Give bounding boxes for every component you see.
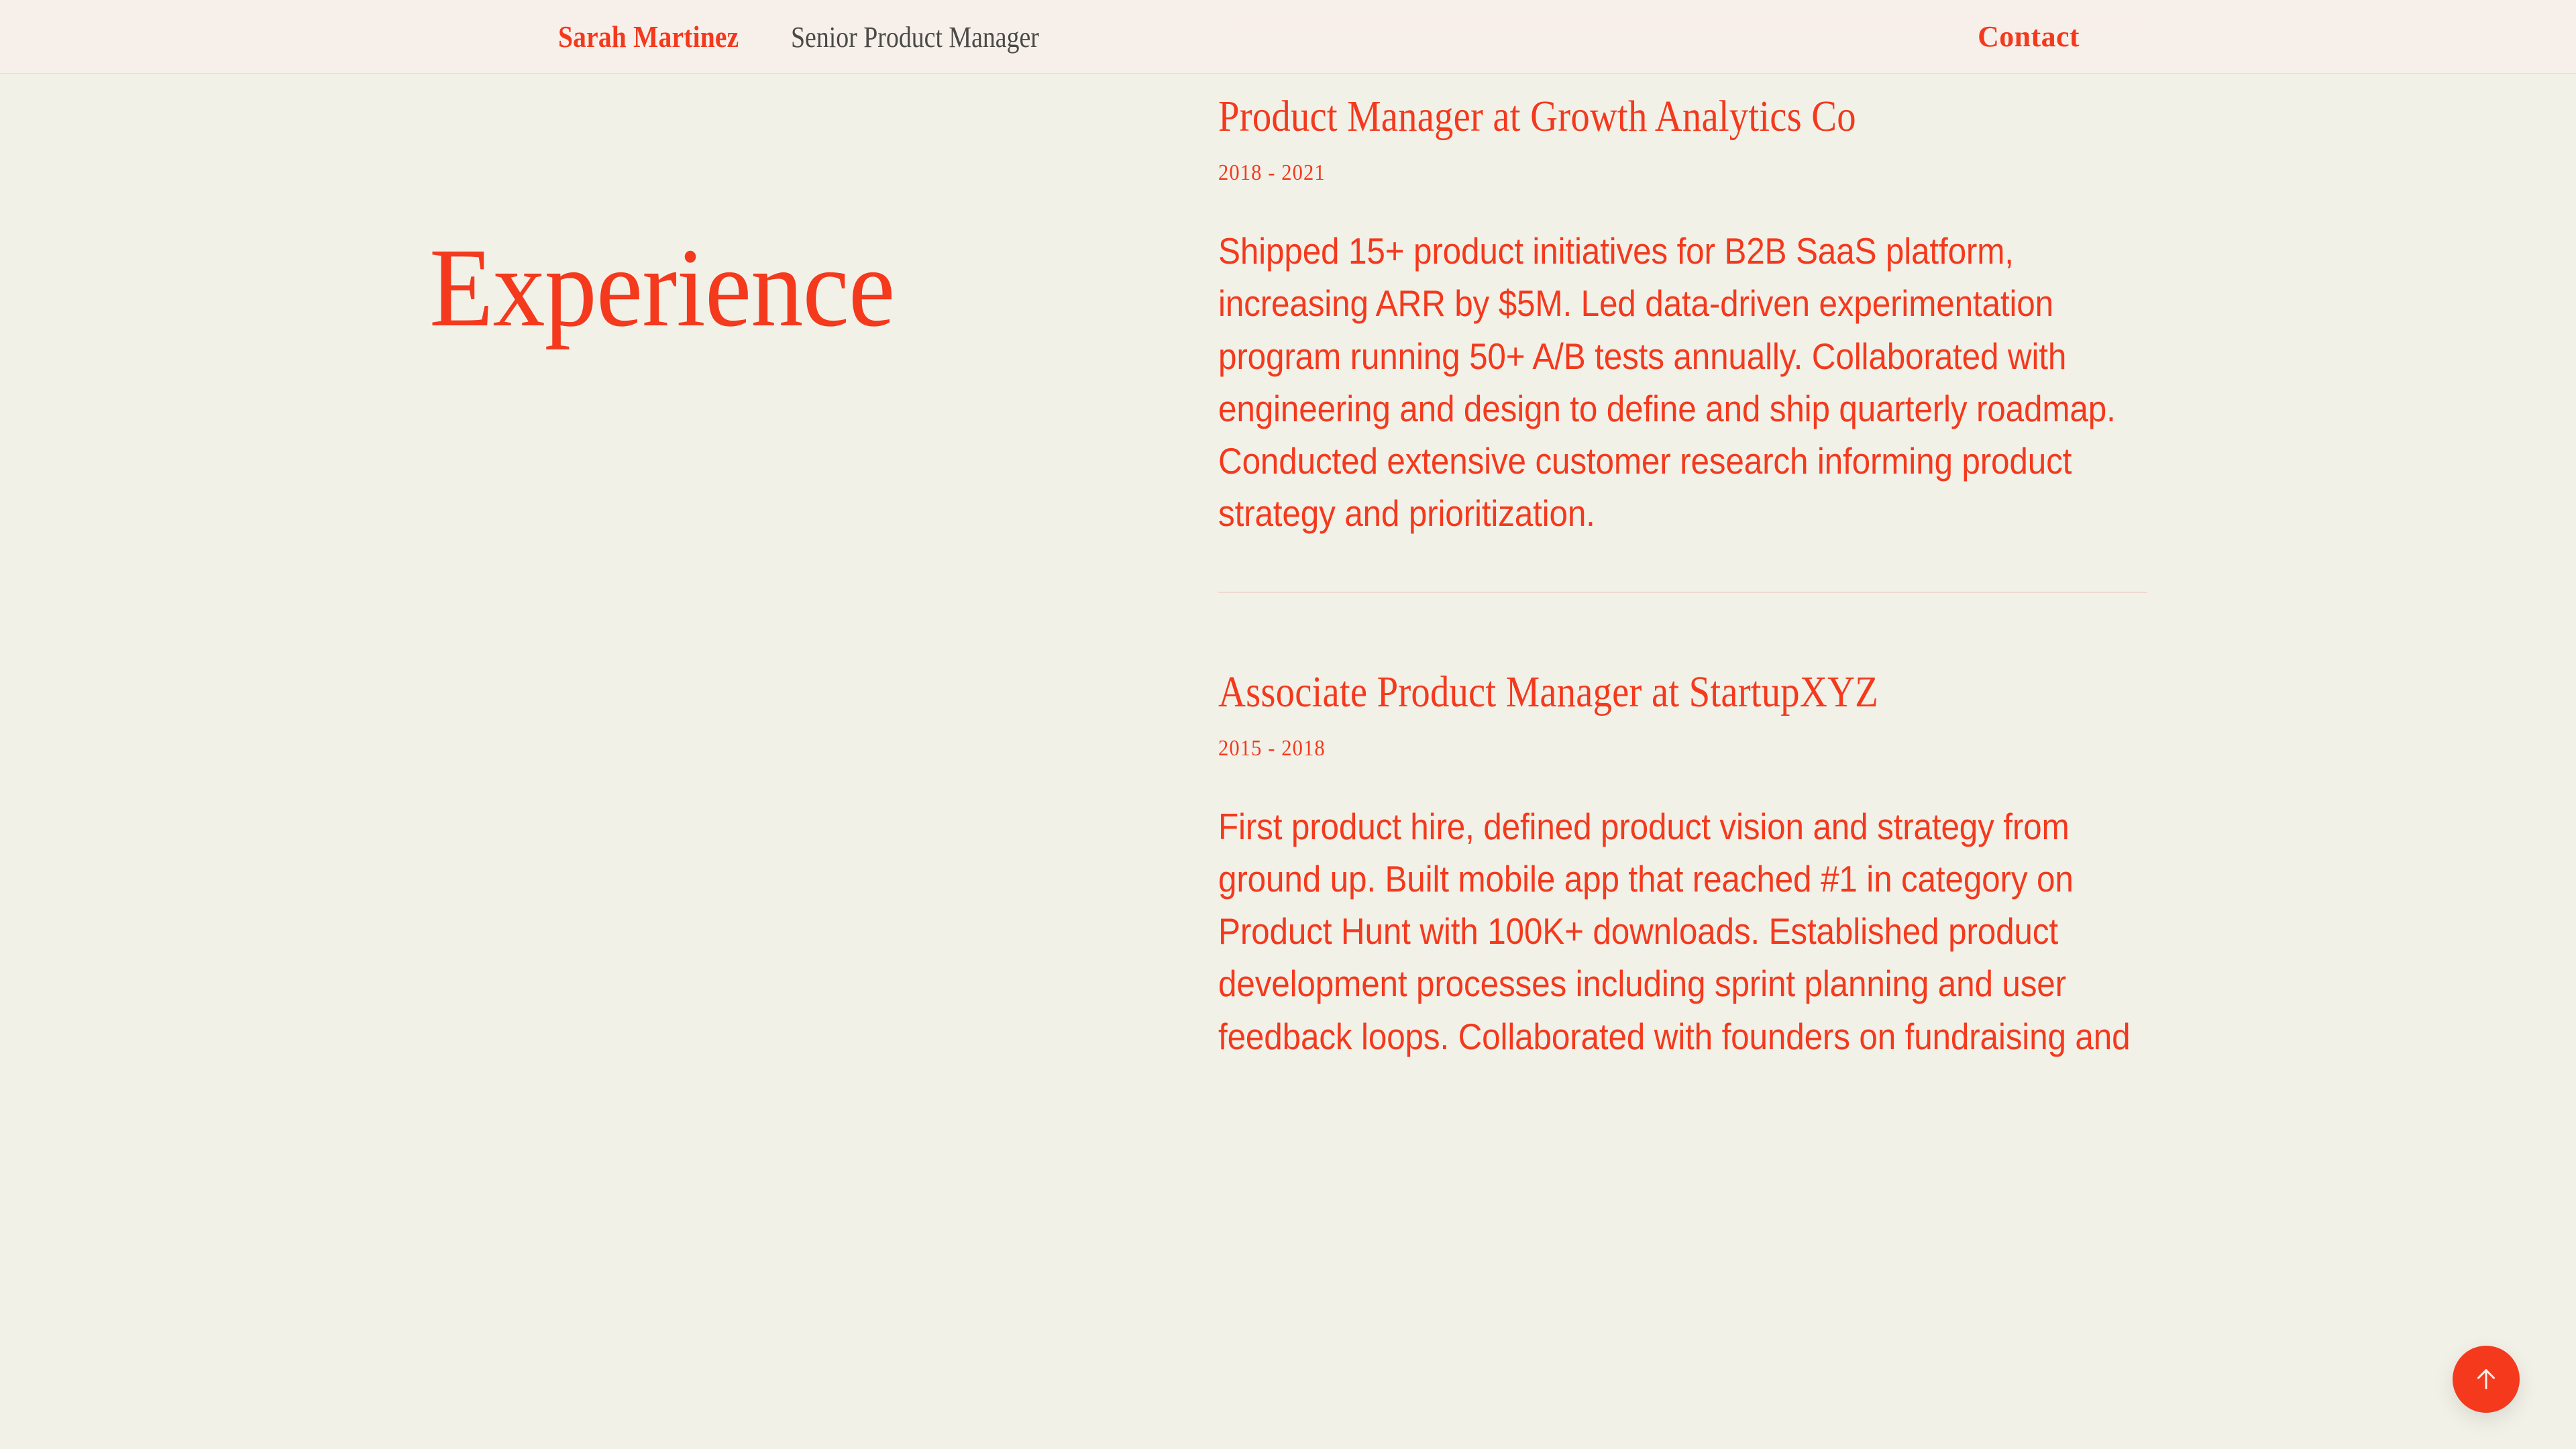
page-title: Experience — [429, 231, 894, 344]
arrow-up-icon — [2471, 1364, 2502, 1395]
page-root: Experience engineers, designers, and ana… — [0, 0, 2576, 1449]
entry-job-title: Product Manager at Growth Analytics Co — [1218, 90, 2145, 143]
nav-link-contact[interactable]: Contact — [1978, 19, 2080, 54]
brand[interactable]: Sarah Martinez Senior Product Manager — [558, 19, 1079, 54]
scroll-to-top-button[interactable] — [2453, 1346, 2520, 1413]
experience-list: engineers, designers, and analysts. Defi… — [1218, 0, 2147, 1063]
experience-entry: Associate Product Manager at StartupXYZ … — [1218, 665, 2147, 1063]
left-column: Experience — [0, 0, 1218, 1449]
brand-role: Senior Product Manager — [791, 20, 1039, 54]
entry-job-title: Associate Product Manager at StartupXYZ — [1218, 665, 2145, 718]
entry-date-range: 2015 - 2018 — [1218, 736, 2055, 761]
entry-description: First product hire, defined product visi… — [1218, 800, 2147, 1062]
entry-date-range: 2018 - 2021 — [1218, 160, 2055, 186]
entry-description: Shipped 15+ product initiatives for B2B … — [1218, 225, 2147, 539]
right-column: engineers, designers, and analysts. Defi… — [1218, 0, 2576, 1449]
site-header: Sarah Martinez Senior Product Manager Co… — [0, 0, 2576, 74]
brand-name[interactable]: Sarah Martinez — [558, 19, 739, 54]
entry-divider — [1218, 592, 2147, 593]
experience-entry: Product Manager at Growth Analytics Co 2… — [1218, 90, 2147, 539]
